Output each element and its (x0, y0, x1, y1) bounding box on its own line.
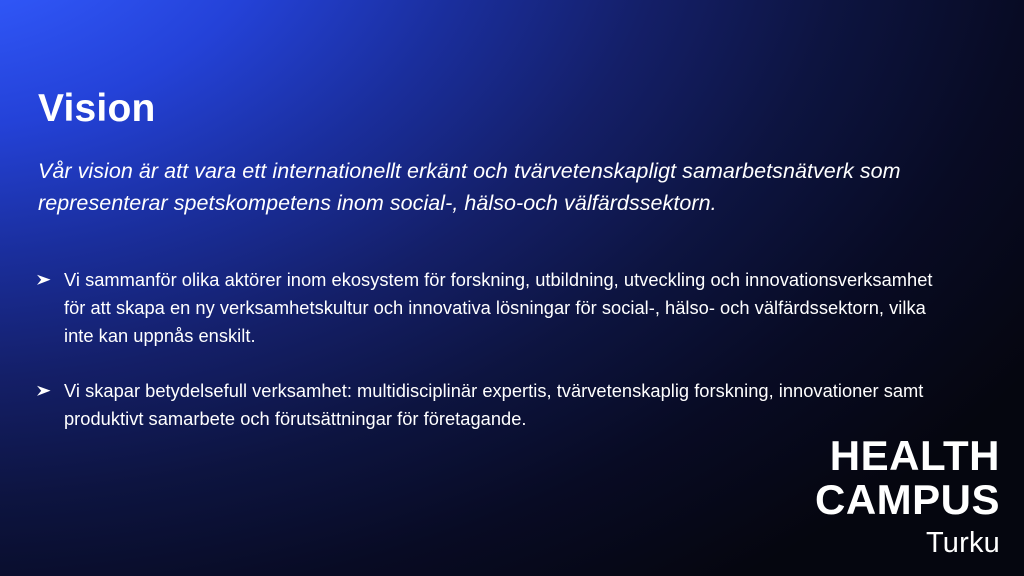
bullet-list: Vi sammanför olika aktörer inom ekosyste… (36, 266, 936, 433)
vision-statement: Vår vision är att vara ett internationel… (38, 155, 943, 219)
health-campus-turku-logo: HEALTH CAMPUS Turku (815, 435, 1000, 560)
list-item-text: Vi skapar betydelsefull verksamhet: mult… (64, 377, 936, 433)
list-item: Vi sammanför olika aktörer inom ekosyste… (36, 266, 936, 350)
slide-canvas: Vision Vår vision är att vara ett intern… (0, 0, 1024, 576)
list-item-text: Vi sammanför olika aktörer inom ekosyste… (64, 266, 936, 350)
logo-line-turku: Turku (815, 526, 1000, 560)
page-title: Vision (38, 88, 156, 130)
arrowhead-bullet-icon (36, 266, 58, 286)
arrowhead-bullet-icon (36, 377, 58, 397)
logo-line-health: HEALTH (815, 435, 1000, 477)
logo-line-campus: CAMPUS (815, 479, 1000, 521)
list-item: Vi skapar betydelsefull verksamhet: mult… (36, 377, 936, 433)
